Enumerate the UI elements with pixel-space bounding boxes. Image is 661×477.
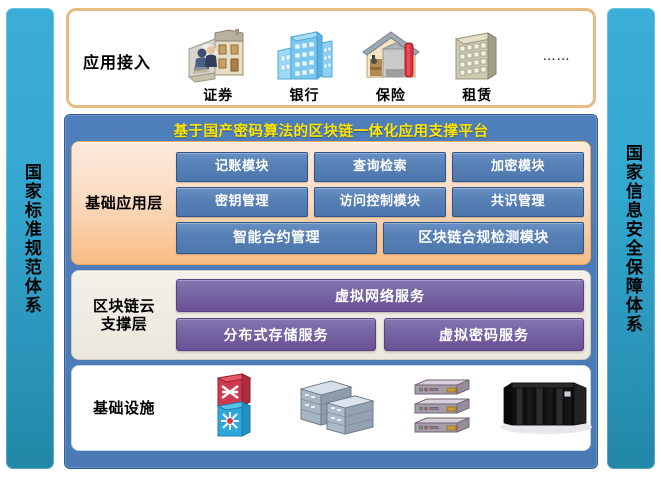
bank-building-icon <box>274 25 336 83</box>
house-office-icon <box>185 25 251 83</box>
module-query-search[interactable]: 查询检索 <box>314 152 446 182</box>
module-encryption[interactable]: 加密模块 <box>452 152 584 182</box>
network-switch-icon <box>212 372 256 444</box>
infra-item-server-rack <box>286 369 390 447</box>
app-item-caption: 租赁 <box>462 85 492 105</box>
module-row: 密钥管理 访问控制模块 共识管理 <box>176 187 584 217</box>
layer-blockchain-cloud-support: 区块链云 支撑层 虚拟网络服务 分布式存储服务 虚拟密码服务 <box>71 270 591 360</box>
server-rack-icon <box>297 375 379 441</box>
layer-label-infrastructure: 基础设施 <box>72 399 176 417</box>
insurance-house-icon <box>359 25 423 83</box>
module-smart-contract-management[interactable]: 智能合约管理 <box>176 222 377 254</box>
app-item-caption: 保险 <box>376 85 406 105</box>
layer-basic-application: 基础应用层 记账模块 查询检索 加密模块 密钥管理 访问控制模块 共识管理 智能… <box>71 141 591 265</box>
layer-body-infrastructure <box>176 368 604 448</box>
infra-item-rack-servers <box>390 369 494 447</box>
module-row: 智能合约管理 区块链合规检测模块 <box>176 222 584 254</box>
module-consensus-management[interactable]: 共识管理 <box>452 187 584 217</box>
app-item-securities[interactable]: 证券 <box>175 17 261 105</box>
right-pillar-label: 国家信息安全保障体系 <box>620 144 642 334</box>
service-virtual-network[interactable]: 虚拟网络服务 <box>176 279 584 312</box>
application-access-section: 应用接入 <box>66 8 596 108</box>
app-item-bank[interactable]: 银行 <box>261 17 347 105</box>
layer-label-basic-application: 基础应用层 <box>72 194 176 212</box>
layer-label-blockchain-cloud-support: 区块链云 支撑层 <box>72 297 176 334</box>
platform-title: 基于国产密码算法的区块链一体化应用支撑平台 <box>69 119 593 141</box>
left-pillar-national-standards: 国家标准规范体系 <box>6 8 54 469</box>
application-access-items: 证券 <box>175 17 593 105</box>
module-row: 记账模块 查询检索 加密模块 <box>176 152 584 182</box>
module-key-management[interactable]: 密钥管理 <box>176 187 308 217</box>
service-virtual-cryptography[interactable]: 虚拟密码服务 <box>384 318 584 351</box>
app-items-ellipsis: …… <box>520 17 593 105</box>
infra-item-switch <box>182 369 286 447</box>
infrastructure-items <box>176 368 598 448</box>
module-access-control[interactable]: 访问控制模块 <box>314 187 446 217</box>
app-item-caption: 证券 <box>203 85 233 105</box>
service-distributed-storage[interactable]: 分布式存储服务 <box>176 318 376 351</box>
module-blockchain-compliance-detection[interactable]: 区块链合规检测模块 <box>383 222 584 254</box>
application-access-label: 应用接入 <box>83 49 151 73</box>
service-row: 分布式存储服务 虚拟密码服务 <box>176 318 584 351</box>
platform-frame: 基于国产密码算法的区块链一体化应用支撑平台 基础应用层 记账模块 查询检索 加密… <box>64 114 598 469</box>
app-item-leasing[interactable]: 租赁 <box>434 17 520 105</box>
module-ledger[interactable]: 记账模块 <box>176 152 308 182</box>
office-tower-icon <box>448 25 506 83</box>
right-pillar-information-security: 国家信息安全保障体系 <box>607 8 655 469</box>
service-row: 虚拟网络服务 <box>176 279 584 312</box>
app-item-insurance[interactable]: 保险 <box>348 17 434 105</box>
layer-body-blockchain-cloud-support: 虚拟网络服务 分布式存储服务 虚拟密码服务 <box>176 279 590 351</box>
layer-infrastructure: 基础设施 <box>71 365 591 451</box>
left-pillar-label: 国家标准规范体系 <box>19 163 41 315</box>
layer-body-basic-application: 记账模块 查询检索 加密模块 密钥管理 访问控制模块 共识管理 智能合约管理 区… <box>176 152 590 254</box>
rack-server-stack-icon <box>411 375 473 441</box>
mainframe-cabinet-icon <box>498 375 594 441</box>
app-item-caption: 银行 <box>290 85 320 105</box>
infra-item-mainframe <box>494 369 598 447</box>
